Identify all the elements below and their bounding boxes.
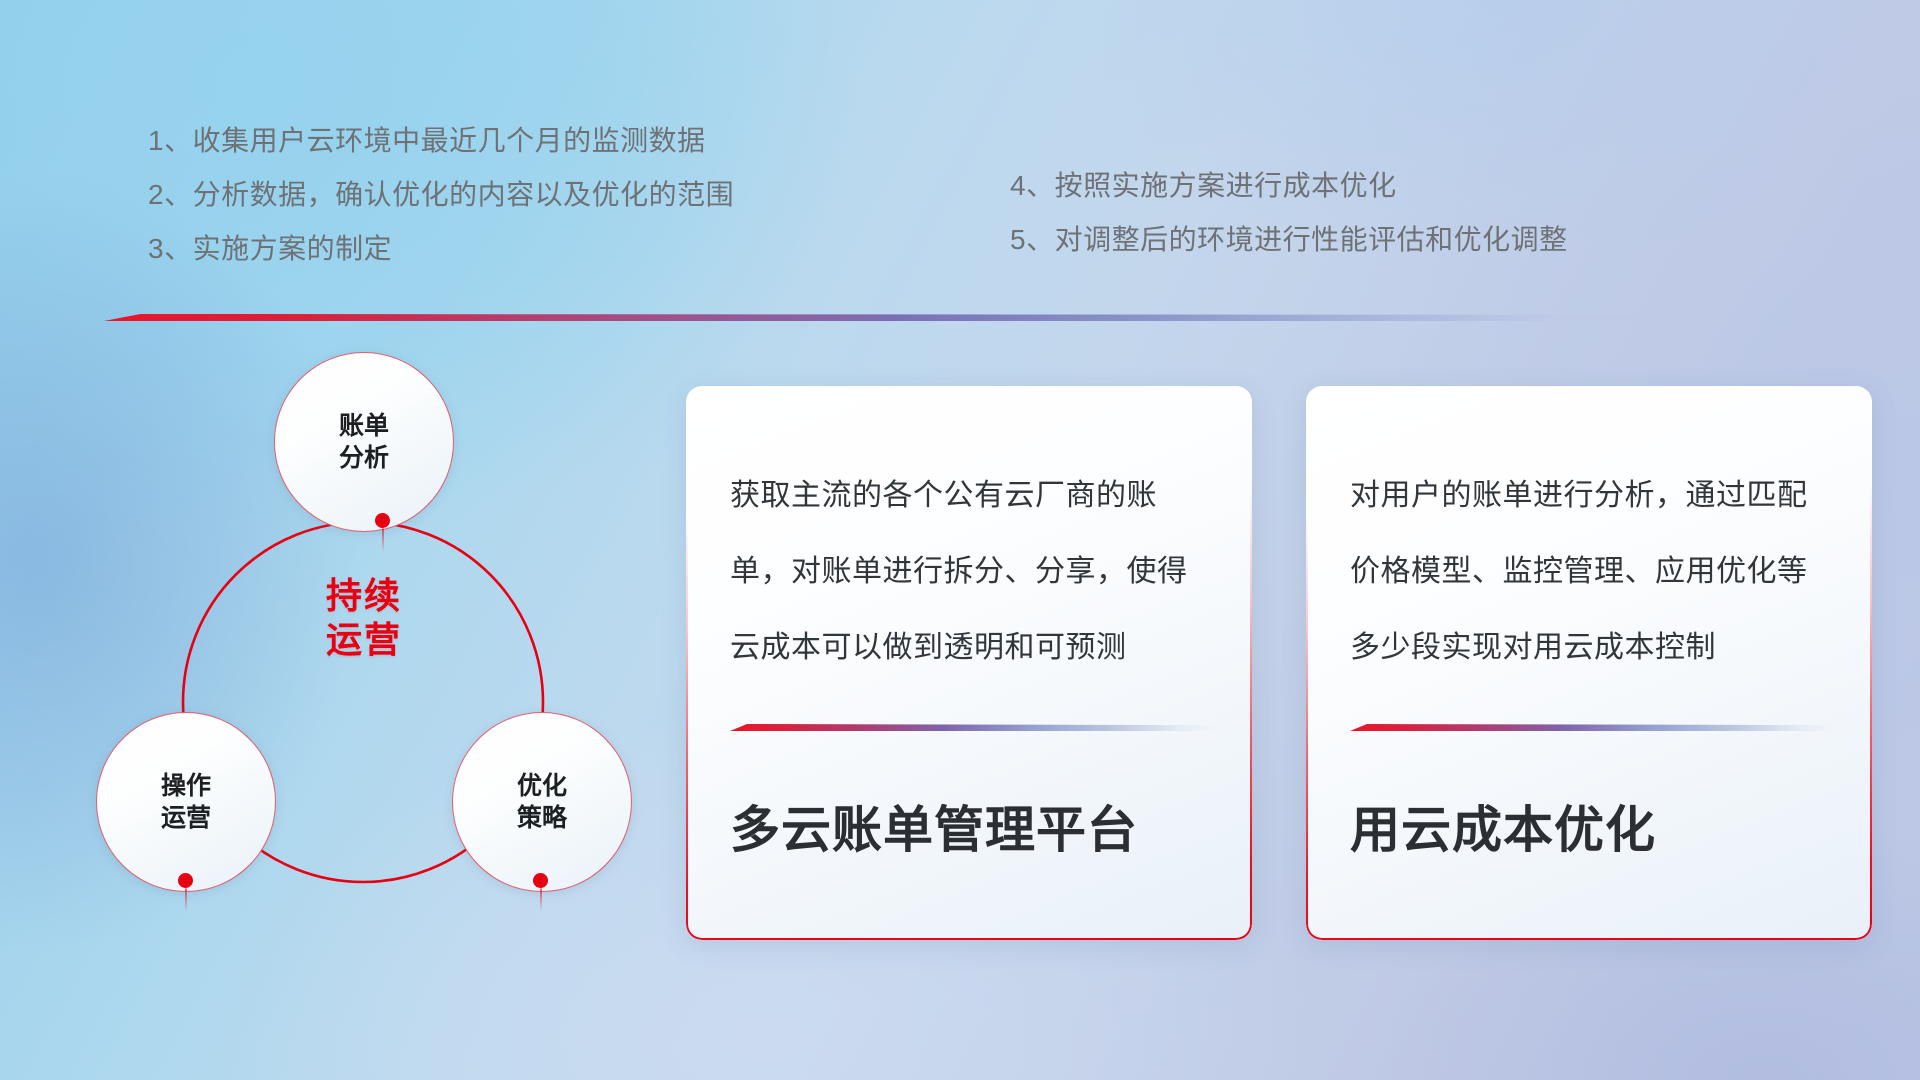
step-item-1: 1、收集用户云环境中最近几个月的监测数据 [148,114,734,168]
bubble-optimization-strategy-line1: 优化 [517,772,567,800]
card-2-divider-bar [1350,724,1836,731]
diagram-center-label: 持续 运营 [282,574,446,662]
diagram-center-label-line1: 持续 [326,575,402,616]
bubble-optimization-strategy-line2: 策略 [517,804,567,832]
bubble-operations-line2: 运营 [161,804,211,832]
section-divider-rule [104,314,1759,321]
step-item-3: 3、实施方案的制定 [148,222,734,276]
card-cloud-cost-optimization[interactable]: 对用户的账单进行分析，通过匹配价格模型、监控管理、应用优化等多少段实现对用云成本… [1306,386,1872,940]
card-2-title: 用云成本优化 [1350,798,1836,862]
node-tail-right [540,886,542,912]
bubble-bill-analysis-line2: 分析 [339,444,389,472]
bubble-bill-analysis-line1: 账单 [339,412,389,440]
card-2-divider-rule [1350,724,1836,731]
node-dot-top [375,513,390,528]
card-multi-cloud-billing-platform[interactable]: 获取主流的各个公有云厂商的账单，对账单进行拆分、分享，使得云成本可以做到透明和可… [686,386,1252,940]
card-1-divider-bar [730,724,1216,731]
card-1-title: 多云账单管理平台 [730,798,1216,862]
bubble-bill-analysis-label: 账单 分析 [339,410,389,474]
steps-right-column: 4、按照实施方案进行成本优化 5、对调整后的环境进行性能评估和优化调整 [1010,159,1568,267]
card-2-body-text: 对用户的账单进行分析，通过匹配价格模型、监控管理、应用优化等多少段实现对用云成本… [1350,458,1836,686]
card-1-divider-rule [730,724,1216,731]
card-1-body-text: 获取主流的各个公有云厂商的账单，对账单进行拆分、分享，使得云成本可以做到透明和可… [730,458,1216,686]
bubble-operations[interactable]: 操作 运营 [96,712,276,892]
bubble-bill-analysis[interactable]: 账单 分析 [274,352,454,532]
diagram-center-label-line2: 运营 [326,619,402,660]
section-divider-bar [104,314,1759,321]
node-dot-left [178,873,193,888]
continuous-operations-diagram: 账单 分析 操作 运营 优化 策略 持续 运营 [96,352,636,952]
step-item-5: 5、对调整后的环境进行性能评估和优化调整 [1010,213,1568,267]
bubble-operations-label: 操作 运营 [161,770,211,834]
steps-left-column: 1、收集用户云环境中最近几个月的监测数据 2、分析数据，确认优化的内容以及优化的… [148,114,734,276]
node-dot-right [533,873,548,888]
node-tail-left [185,886,187,912]
node-tail-top [382,526,384,552]
step-item-4: 4、按照实施方案进行成本优化 [1010,159,1568,213]
bubble-optimization-strategy[interactable]: 优化 策略 [452,712,632,892]
bubble-operations-line1: 操作 [161,772,211,800]
step-item-2: 2、分析数据，确认优化的内容以及优化的范围 [148,168,734,222]
bubble-optimization-strategy-label: 优化 策略 [517,770,567,834]
slide-canvas: 1、收集用户云环境中最近几个月的监测数据 2、分析数据，确认优化的内容以及优化的… [0,0,1920,1080]
